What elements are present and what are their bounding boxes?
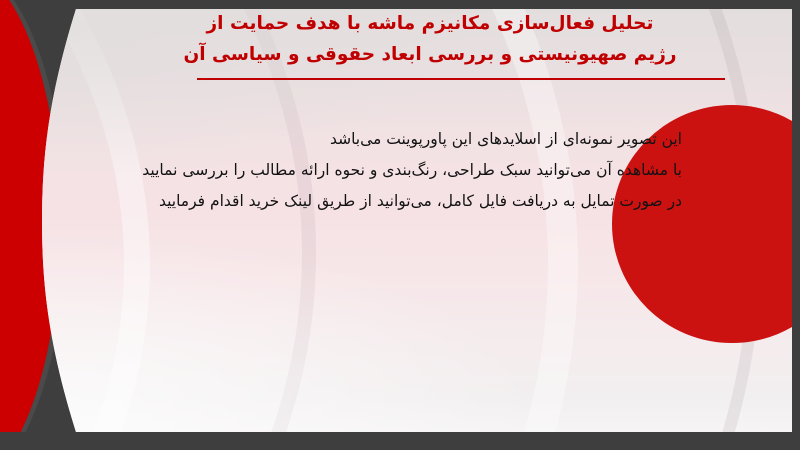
slide-content-panel [18,9,792,432]
slide-title: تحلیل فعال‌سازی مکانیزم ماشه با هدف حمای… [120,8,740,70]
presentation-slide: تحلیل فعال‌سازی مکانیزم ماشه با هدف حمای… [0,0,800,450]
slide-body-text: این تصویر نمونه‌ای از اسلایدهای این پاور… [122,124,682,217]
body-line-1: این تصویر نمونه‌ای از اسلایدهای این پاور… [122,124,682,155]
body-line-2: با مشاهده آن می‌توانید سبک طراحی، رنگ‌بن… [122,155,682,186]
slide-title-line-1: تحلیل فعال‌سازی مکانیزم ماشه با هدف حمای… [120,8,740,39]
slide-bottom-band [0,432,800,450]
body-line-3: در صورت تمایل به دریافت فایل کامل، می‌تو… [122,186,682,217]
title-underline-rule [197,78,725,80]
slide-title-line-2: رژیم صهیونیستی و بررسی ابعاد حقوقی و سیا… [120,39,740,70]
